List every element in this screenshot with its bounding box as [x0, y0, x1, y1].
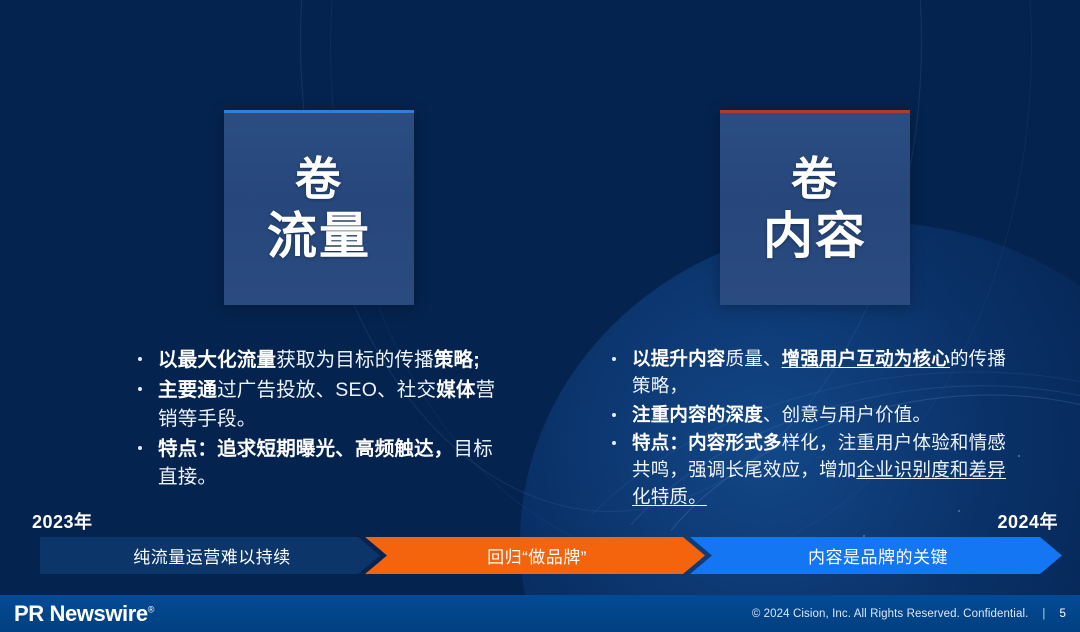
text-run: 、创意与用户价值。 — [763, 404, 931, 425]
page-number: 5 — [1060, 608, 1067, 620]
card-volume-line1: 卷 — [295, 152, 343, 206]
text-run: 获取为目标的传播 — [276, 349, 434, 371]
text-run: 以提升内容 — [632, 348, 726, 369]
footer-copyright-area: © 2024 Cision, Inc. All Rights Reserved.… — [752, 608, 1066, 620]
text-run: 媒体 — [436, 379, 475, 401]
presentation-slide: 卷 流量 卷 内容 以最大化流量获取为目标的传播策略;主要通过广告投放、SEO、… — [0, 0, 1080, 632]
list-item-text: 以最大化流量获取为目标的传播策略; — [158, 346, 510, 374]
text-run: 质量、 — [726, 348, 782, 369]
bullet-point-icon — [612, 346, 632, 361]
pr-newswire-logo: PR Newswire® — [14, 601, 154, 627]
background-dot — [1018, 455, 1020, 457]
copyright-text: © 2024 Cision, Inc. All Rights Reserved.… — [752, 608, 1029, 620]
list-item: 以提升内容质量、增强用户互动为核心的传播策略， — [612, 346, 1012, 400]
text-run: 以最大化流量 — [158, 349, 276, 371]
list-item-text: 主要通过广告投放、SEO、社交媒体营销等手段。 — [158, 376, 510, 433]
list-item-text: 特点：追求短期曝光、高频触达，目标直接。 — [158, 435, 510, 492]
footer-separator: | — [1042, 608, 1045, 620]
list-item: 特点：内容形式多样化，注重用户体验和情感共鸣，强调长尾效应，增加企业识别度和差异… — [612, 430, 1012, 510]
bullet-list-left: 以最大化流量获取为目标的传播策略;主要通过广告投放、SEO、社交媒体营销等手段。… — [138, 346, 510, 493]
list-item: 特点：追求短期曝光、高频触达，目标直接。 — [138, 435, 510, 492]
list-item-text: 特点：内容形式多样化，注重用户体验和情感共鸣，强调长尾效应，增加企业识别度和差异… — [632, 430, 1012, 510]
timeline-segment-1[interactable]: 纯流量运营难以持续 — [40, 537, 380, 574]
timeline-year-start: 2023年 — [32, 508, 93, 534]
list-item-text: 以提升内容质量、增强用户互动为核心的传播策略， — [632, 346, 1012, 400]
list-item: 注重内容的深度、创意与用户价值。 — [612, 402, 1012, 429]
bullet-point-icon — [138, 346, 158, 361]
timeline-segment-3-label: 内容是品牌的关键 — [804, 543, 948, 568]
timeline-segment-2[interactable]: 回归“做品牌” — [365, 537, 705, 574]
text-run: 策略; — [434, 349, 480, 371]
text-run: 增强用户互动为核心 — [782, 348, 950, 369]
card-volume-line2: 流量 — [267, 207, 371, 266]
bullet-list-right: 以提升内容质量、增强用户互动为核心的传播策略，注重内容的深度、创意与用户价值。特… — [612, 346, 1012, 513]
list-item-text: 注重内容的深度、创意与用户价值。 — [632, 402, 1012, 429]
concept-card-volume: 卷 流量 — [224, 110, 414, 305]
card-content-line2: 内容 — [763, 207, 867, 266]
slide-footer: PR Newswire® © 2024 Cision, Inc. All Rig… — [0, 595, 1080, 632]
bullet-point-icon — [138, 435, 158, 450]
timeline-year-end: 2024年 — [997, 508, 1058, 534]
text-run: 特点：追求短期曝光、高频触达， — [158, 438, 454, 460]
card-content-line1: 卷 — [791, 152, 839, 206]
bullet-point-icon — [138, 376, 158, 391]
list-item: 主要通过广告投放、SEO、社交媒体营销等手段。 — [138, 376, 510, 433]
bullet-point-icon — [612, 402, 632, 417]
bullet-point-icon — [612, 430, 632, 445]
logo-text: PR Newswire — [14, 601, 148, 626]
concept-card-content: 卷 内容 — [720, 110, 910, 305]
timeline-bar: 纯流量运营难以持续 回归“做品牌” 内容是品牌的关键 — [40, 537, 1062, 574]
timeline-segment-1-label: 纯流量运营难以持续 — [129, 543, 291, 568]
text-run: 过广告投放、SEO、社交 — [217, 379, 436, 401]
text-run: 注重内容的深度 — [632, 404, 763, 425]
list-item: 以最大化流量获取为目标的传播策略; — [138, 346, 510, 374]
text-run: 特点：内容形式多 — [632, 432, 782, 453]
registered-mark-icon: ® — [148, 604, 154, 614]
text-run: 主要通 — [158, 379, 217, 401]
timeline-segment-2-label: 回归“做品牌” — [483, 543, 587, 568]
timeline-segment-3[interactable]: 内容是品牌的关键 — [690, 537, 1062, 574]
